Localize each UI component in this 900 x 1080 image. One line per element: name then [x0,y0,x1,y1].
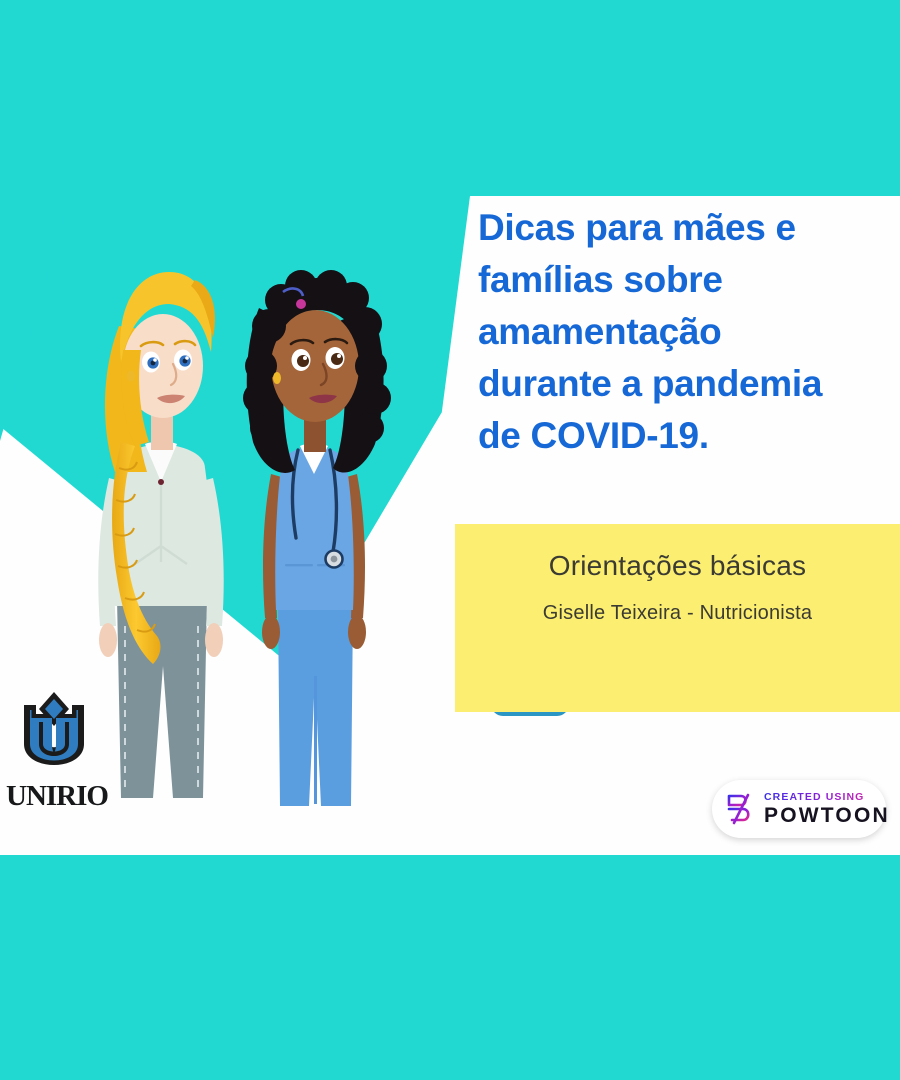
title-line-1: Dicas para mães e [478,202,878,254]
title-line-4: durante a pandemia [478,358,878,410]
title-line-2: famílias sobre [478,254,878,306]
video-player-stage: Dicas para mães e famílias sobre amament… [0,0,900,1080]
powtoon-ribbon-icon [725,792,755,826]
character-illustration [95,246,445,836]
title-line-3: amamentação [478,306,878,358]
unirio-u-shield-icon [6,688,102,780]
caption-box: Orientações básicas Giselle Teixeira - N… [455,524,900,712]
powtoon-wordmark: CREATED USING POWTOON [764,792,890,827]
powtoon-brand-label: POWTOON [764,805,890,826]
powtoon-created-using-label: CREATED USING [764,792,890,803]
slide-title: Dicas para mães e famílias sobre amament… [478,202,878,462]
slide-subtitle: Orientações básicas [455,546,900,586]
unirio-wordmark: UNIRIO [6,780,102,812]
powtoon-badge[interactable]: CREATED USING POWTOON [712,780,886,838]
nurse-figure [243,270,391,806]
blonde-woman-figure [98,272,223,798]
slide-canvas: Dicas para mães e famílias sobre amament… [0,196,900,855]
presenter-credit: Giselle Teixeira - Nutricionista [455,602,900,625]
title-line-5: de COVID-19. [478,410,878,462]
unirio-logo: UNIRIO [6,688,102,818]
